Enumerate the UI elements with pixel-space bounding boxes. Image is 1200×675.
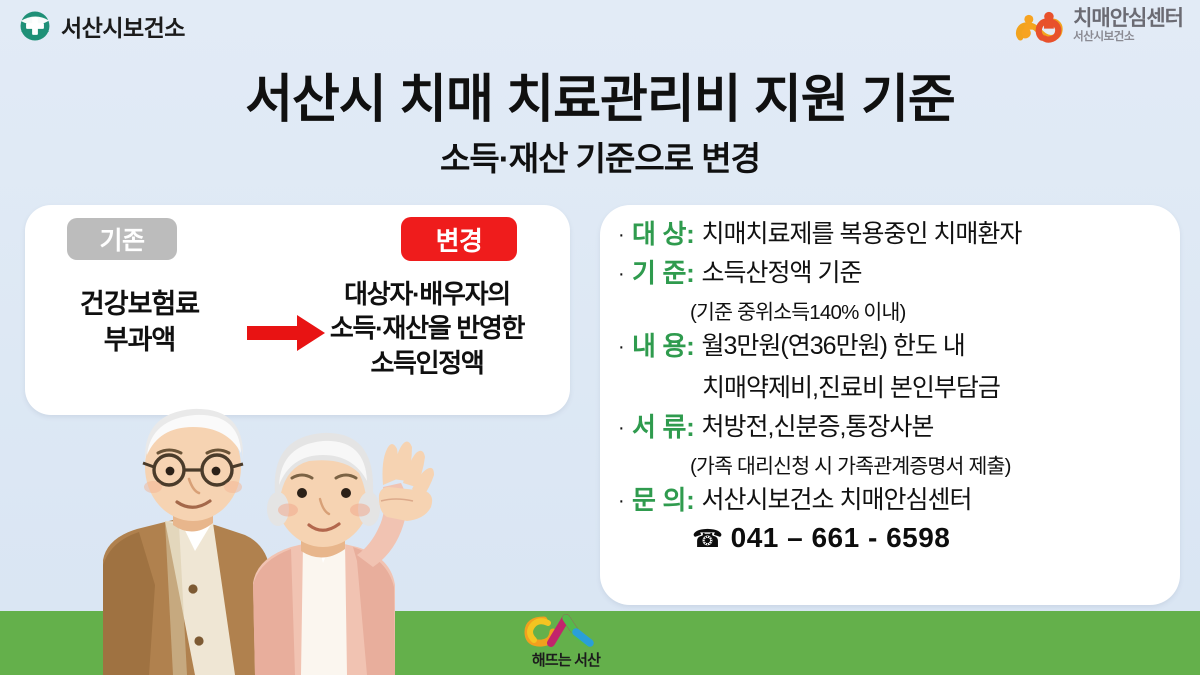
bullet-icon: · [618, 329, 632, 361]
badge-existing: 기존 [67, 218, 177, 260]
detail-row-contact: · 문 의: 서산시보건소 치매안심센터 [618, 483, 1172, 519]
detail-value-documents: 처방전,신분증,통장사본 [702, 410, 934, 445]
detail-value-content: 월3만원(연36만원) 한도 내 [702, 329, 965, 364]
detail-row-criteria: · 기 준: 소득산정액 기준 [618, 256, 1172, 292]
detail-label-target: 대 상: [632, 217, 695, 253]
contact-phone: ☎041 – 661 - 6598 [692, 522, 1172, 554]
seosan-city-logo [518, 610, 614, 650]
detail-value-target: 치매치료제를 복용중인 치매환자 [702, 217, 1022, 252]
badge-changed: 변경 [401, 217, 517, 261]
detail-value-contact: 서산시보건소 치매안심센터 [702, 483, 972, 518]
detail-note-criteria: (기준 중위소득140% 이내) [690, 295, 1172, 325]
dementia-care-center-icon [1015, 8, 1065, 44]
dementia-center-logo-text: 치매안심센터 서산시보건소 [1073, 8, 1183, 44]
dementia-center-logo: 치매안심센터 서산시보건소 [1015, 8, 1183, 44]
elderly-couple-illustration [95, 375, 440, 675]
detail-row-target: · 대 상: 치매치료제를 복용중인 치매환자 [618, 217, 1172, 253]
old-criteria-line1: 건강보험료 [80, 289, 199, 319]
bullet-icon: · [618, 256, 632, 288]
dementia-center-logo-sublabel: 서산시보건소 [1073, 32, 1183, 44]
detail-label-criteria: 기 준: [632, 256, 695, 292]
detail-row-documents: · 서 류: 처방전,신분증,통장사본 [618, 410, 1172, 446]
bullet-icon: · [618, 217, 632, 249]
page-subtitle: 소득·재산 기준으로 변경 [0, 132, 1200, 180]
city-slogan: 해뜨는 서산 [505, 649, 627, 670]
old-criteria-text: 건강보험료 부과액 [37, 287, 242, 359]
new-criteria-line1: 대상자·배우자의 [344, 279, 510, 309]
new-criteria-line3: 소득인정액 [370, 348, 483, 378]
telephone-icon: ☎ [692, 525, 724, 553]
contact-phone-number: 041 – 661 - 6598 [731, 522, 951, 553]
detail-value-criteria: 소득산정액 기준 [702, 256, 862, 291]
health-center-logo-label: 서산시보건소 [61, 9, 185, 43]
poster-root: 서산시보건소 치매안심센터 서산시보건소 서산시 치매 치료관리비 지원 기준 … [0, 0, 1200, 675]
bullet-icon: · [618, 483, 632, 515]
details-list: · 대 상: 치매치료제를 복용중인 치매환자 · 기 준: 소득산정액 기준 … [618, 217, 1172, 554]
page-title: 서산시 치매 치료관리비 지원 기준 [0, 57, 1200, 132]
detail-note-documents: (가족 대리신청 시 가족관계증명서 제출) [690, 449, 1172, 479]
detail-label-documents: 서 류: [632, 410, 695, 446]
city-logo: 해뜨는 서산 [505, 610, 627, 672]
health-center-logo: 서산시보건소 [18, 9, 185, 43]
details-card: · 대 상: 치매치료제를 복용중인 치매환자 · 기 준: 소득산정액 기준 … [600, 205, 1180, 605]
detail-label-content: 내 용: [632, 329, 695, 365]
bullet-icon: · [618, 410, 632, 442]
new-criteria-text: 대상자·배우자의 소득·재산을 반영한 소득인정액 [293, 277, 561, 380]
health-center-cross-icon [18, 9, 52, 43]
detail-row-content: · 내 용: 월3만원(연36만원) 한도 내 [618, 329, 1172, 365]
detail-value-content-line2: 치매약제비,진료비 본인부담금 [702, 368, 1172, 404]
dementia-center-logo-label: 치매안심센터 [1073, 8, 1183, 29]
detail-label-contact: 문 의: [632, 483, 695, 519]
new-criteria-line2: 소득·재산을 반영한 [330, 313, 524, 343]
old-criteria-line2: 부과액 [104, 325, 176, 355]
